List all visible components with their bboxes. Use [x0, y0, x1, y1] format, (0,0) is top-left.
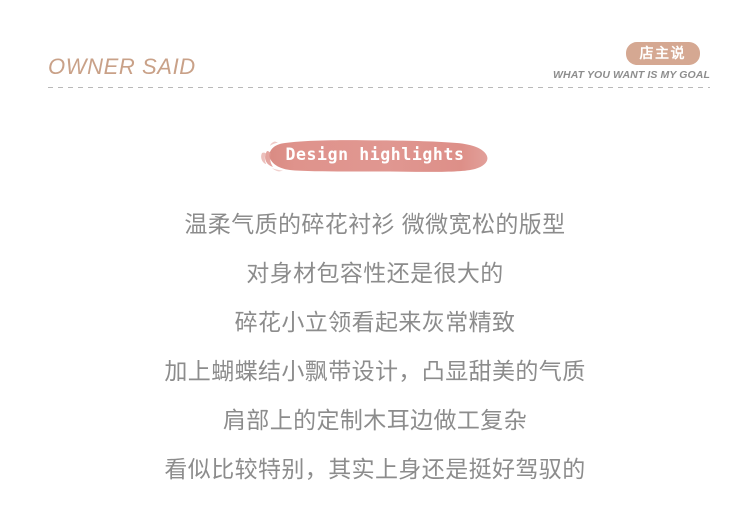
copy-line: 温柔气质的碎花衬衫 微微宽松的版型 — [0, 200, 750, 249]
copy-line: 肩部上的定制木耳边做工复杂 — [0, 396, 750, 445]
page-title: OWNER SAID — [48, 56, 196, 78]
header-tagline: WHAT YOU WANT IS MY GOAL — [470, 69, 710, 81]
copy-line: 碎花小立领看起来灰常精致 — [0, 298, 750, 347]
copy-line: 看似比较特别，其实上身还是挺好驾驭的 — [0, 445, 750, 494]
page-header: OWNER SAID 店主说 WHAT YOU WANT IS MY GOAL — [0, 0, 750, 95]
status-badge: 店主说 — [626, 42, 701, 65]
section-banner-wrapper: Design highlights — [0, 136, 750, 176]
header-divider — [48, 87, 710, 88]
header-right-group: 店主说 WHAT YOU WANT IS MY GOAL — [470, 42, 710, 81]
section-banner-label: Design highlights — [285, 147, 464, 165]
copy-line: 对身材包容性还是很大的 — [0, 249, 750, 298]
copy-line: 加上蝴蝶结小飘带设计，凸显甜美的气质 — [0, 347, 750, 396]
product-description-page: OWNER SAID 店主说 WHAT YOU WANT IS MY GOAL — [0, 0, 750, 509]
body-copy: 温柔气质的碎花衬衫 微微宽松的版型 对身材包容性还是很大的 碎花小立领看起来灰常… — [0, 200, 750, 494]
section-banner: Design highlights — [259, 139, 491, 173]
